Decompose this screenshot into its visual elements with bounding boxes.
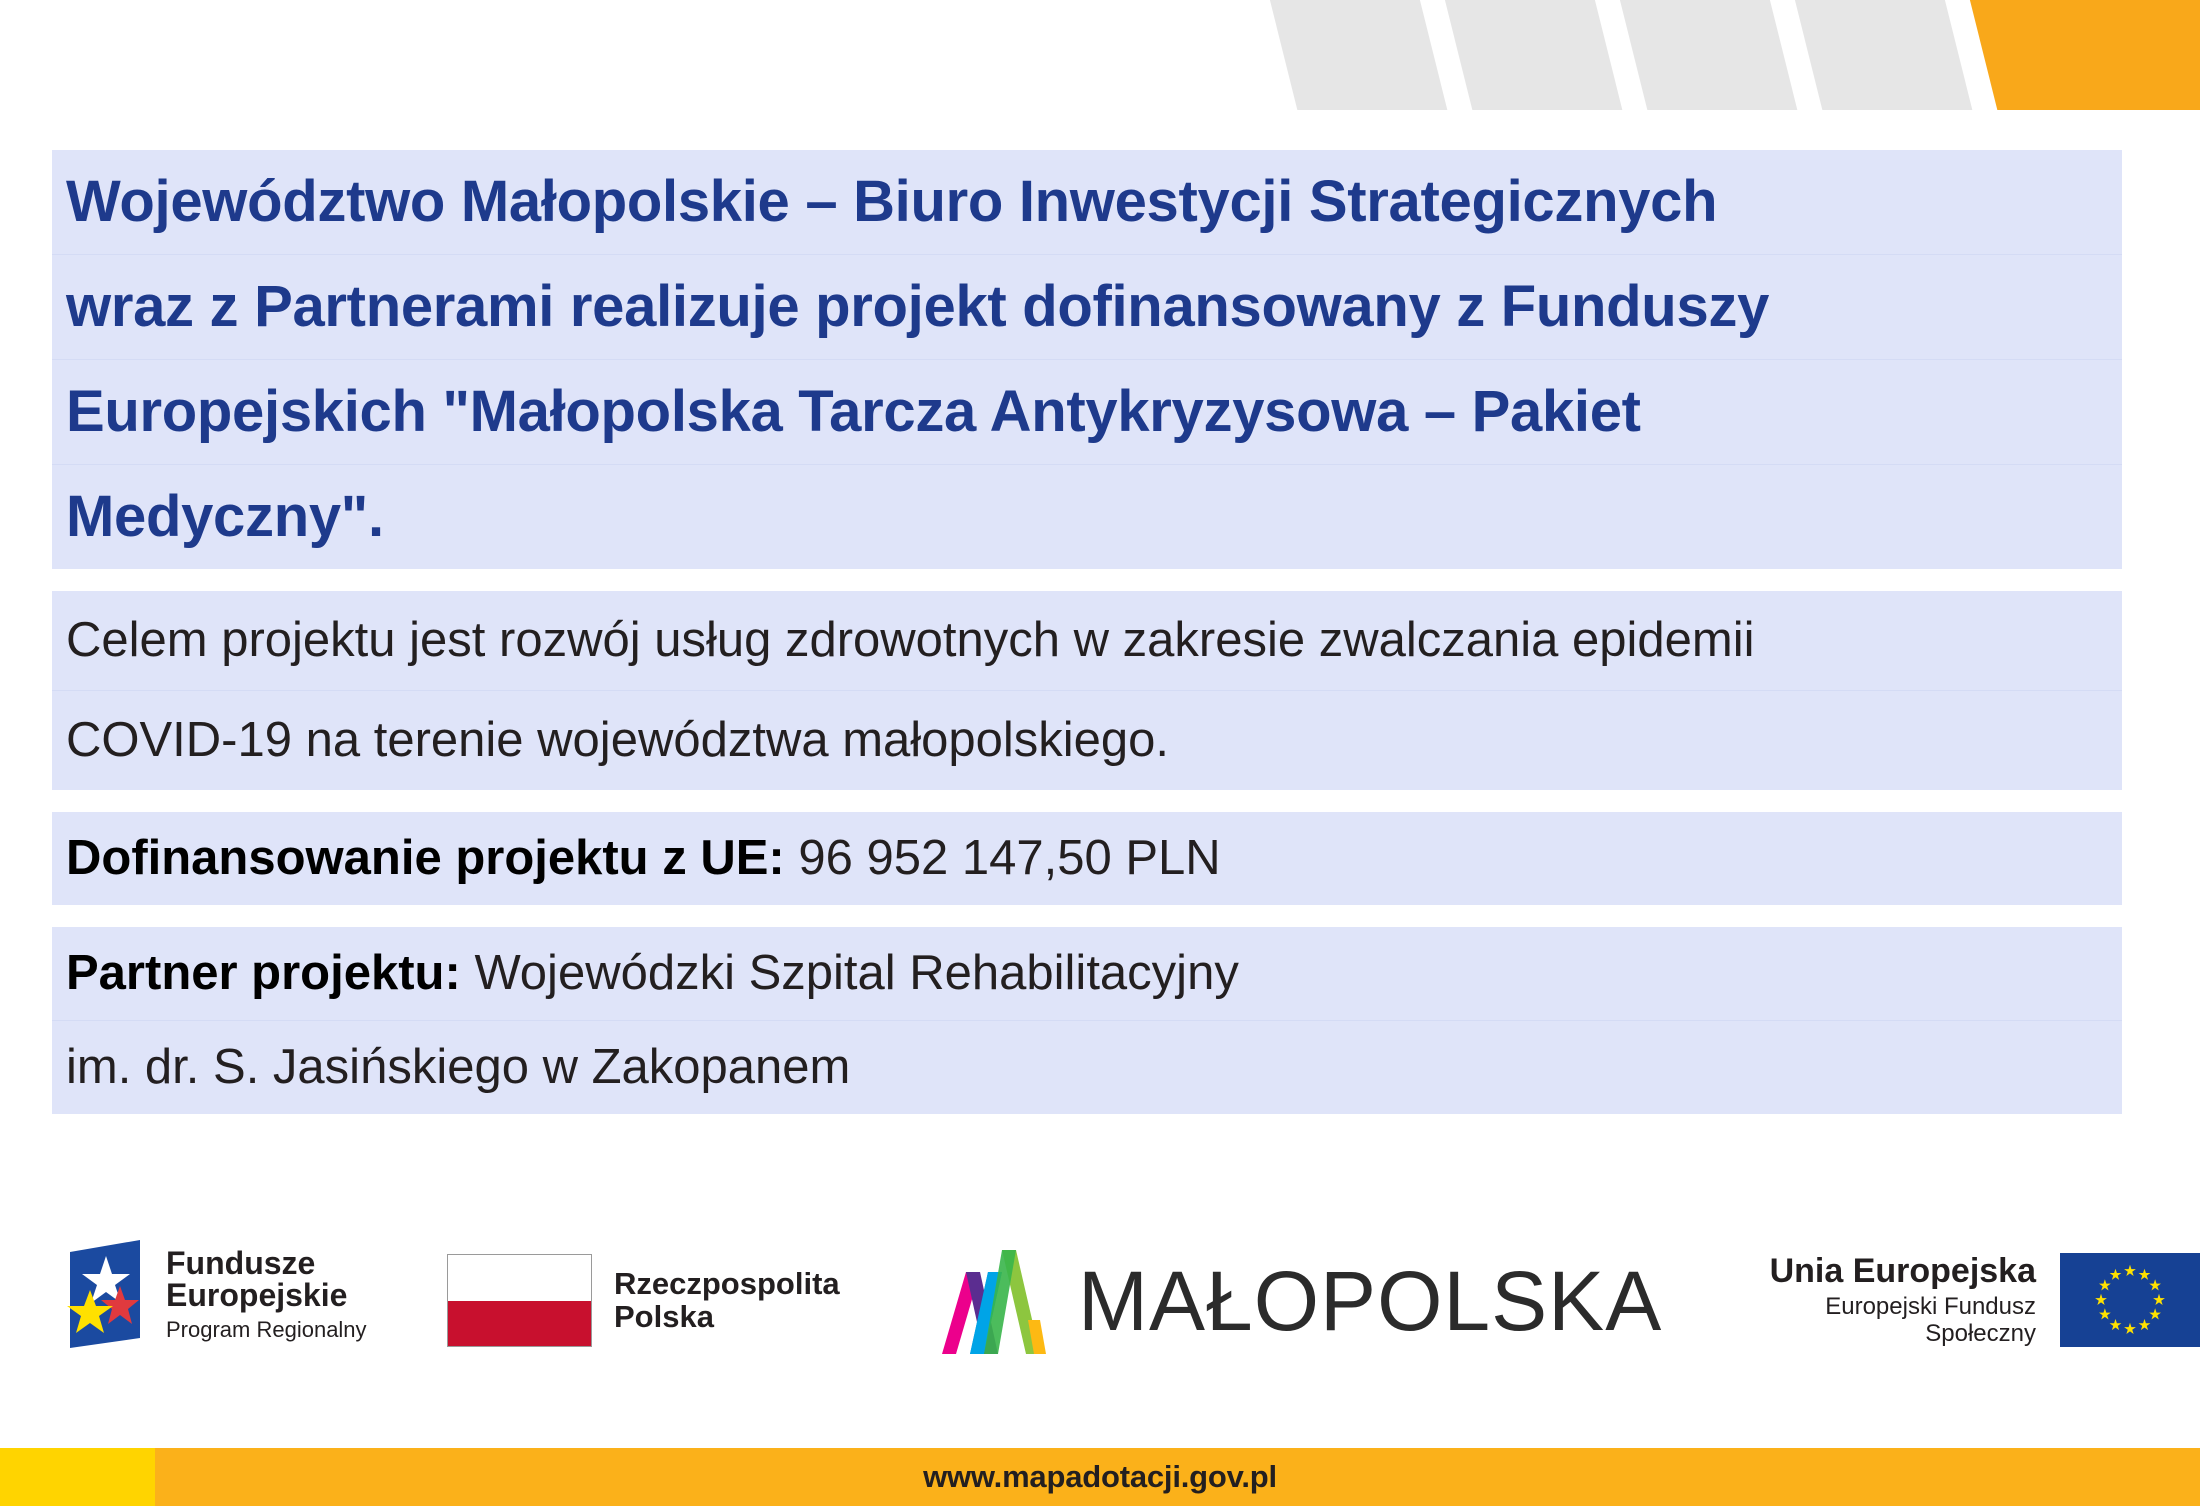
deco-shape-orange	[1940, 0, 2200, 110]
deco-shape-gray-4	[1765, 0, 1972, 110]
logo-fundusze-europejskie: Fundusze Europejskie Program Regionalny	[62, 1238, 367, 1350]
heading-line-text: wraz z Partnerami realizuje projekt dofi…	[52, 255, 2122, 359]
malopolska-m-mark	[940, 1242, 1052, 1360]
funding-value: 96 952 147,50 PLN	[798, 831, 1220, 885]
partner-info: Partner projektu: Wojewódzki Szpital Reh…	[52, 927, 2122, 1114]
partner-label: Partner projektu:	[66, 946, 461, 1000]
rp-line1: Rzeczpospolita	[614, 1268, 840, 1301]
heading-line: Medyczny".	[52, 464, 2122, 569]
fundusze-europejskie-stars-mark	[62, 1238, 148, 1350]
body-line: Celem projektu jest rozwój usług zdrowot…	[52, 591, 2122, 690]
logo-unia-europejska: Unia Europejska Europejski Fundusz Społe…	[1718, 1252, 2200, 1348]
fe-line2: Europejskie	[166, 1279, 367, 1312]
partner-value-line2: im. dr. S. Jasińskiego w Zakopanem	[52, 1021, 2122, 1114]
fundusze-europejskie-text: Fundusze Europejskie Program Regionalny	[166, 1247, 367, 1342]
funding-line: Dofinansowanie projektu z UE: 96 952 147…	[52, 812, 2122, 905]
rzeczpospolita-text: Rzeczpospolita Polska	[614, 1268, 840, 1334]
deco-shape-gray-1	[1240, 0, 1447, 110]
ue-line1: Unia Europejska	[1718, 1252, 2036, 1290]
heading-line: Europejskich "Małopolska Tarcza Antykryz…	[52, 359, 2122, 464]
ue-line2: Europejski Fundusz Społeczny	[1718, 1294, 2036, 1348]
eu-flag-icon	[2060, 1253, 2200, 1347]
fe-line3: Program Regionalny	[166, 1319, 367, 1341]
footer-bar: www.mapadotacji.gov.pl	[0, 1448, 2200, 1506]
partner-value: Wojewódzki Szpital Rehabilitacyjny	[474, 946, 1238, 1000]
unia-europejska-text: Unia Europejska Europejski Fundusz Społe…	[1718, 1252, 2036, 1348]
deco-shape-gray-3	[1590, 0, 1797, 110]
logo-rzeczpospolita-polska: Rzeczpospolita Polska	[447, 1254, 840, 1347]
deco-shape-gray-2	[1415, 0, 1622, 110]
heading-line-text: Europejskich "Małopolska Tarcza Antykryz…	[52, 360, 2122, 464]
body-line: COVID-19 na terenie województwa małopols…	[52, 690, 2122, 790]
heading-line: wraz z Partnerami realizuje projekt dofi…	[52, 254, 2122, 359]
heading-line-text: Województwo Małopolskie – Biuro Inwestyc…	[52, 150, 2122, 254]
funding-line-inner: Dofinansowanie projektu z UE: 96 952 147…	[52, 812, 2122, 905]
partner-line: im. dr. S. Jasińskiego w Zakopanem	[52, 1020, 2122, 1114]
body-line-text: COVID-19 na terenie województwa małopols…	[52, 691, 2122, 790]
flag-red-stripe	[448, 1301, 591, 1347]
body-line-text: Celem projektu jest rozwój usług zdrowot…	[52, 591, 2122, 690]
logo-strip: Fundusze Europejskie Program Regionalny …	[0, 1232, 2200, 1422]
partner-line-inner: Partner projektu: Wojewódzki Szpital Reh…	[52, 927, 2122, 1020]
project-heading: Województwo Małopolskie – Biuro Inwestyc…	[52, 150, 2122, 569]
funding-label: Dofinansowanie projektu z UE:	[66, 831, 785, 885]
rp-line2: Polska	[614, 1301, 840, 1334]
project-goal: Celem projektu jest rozwój usług zdrowot…	[52, 591, 2122, 790]
poster-content: Województwo Małopolskie – Biuro Inwestyc…	[52, 150, 2122, 1136]
heading-line: Województwo Małopolskie – Biuro Inwestyc…	[52, 150, 2122, 254]
funding-info: Dofinansowanie projektu z UE: 96 952 147…	[52, 812, 2122, 905]
malopolska-wordmark: MAŁOPOLSKA	[1078, 1259, 1662, 1343]
fe-line1: Fundusze	[166, 1247, 367, 1280]
logo-malopolska: MAŁOPOLSKA	[940, 1242, 1662, 1360]
poland-flag-icon	[447, 1254, 592, 1347]
flag-white-stripe	[448, 1255, 591, 1301]
heading-line-text: Medyczny".	[52, 465, 2122, 569]
footer-url: www.mapadotacji.gov.pl	[0, 1448, 2200, 1506]
partner-line: Partner projektu: Wojewódzki Szpital Reh…	[52, 927, 2122, 1020]
